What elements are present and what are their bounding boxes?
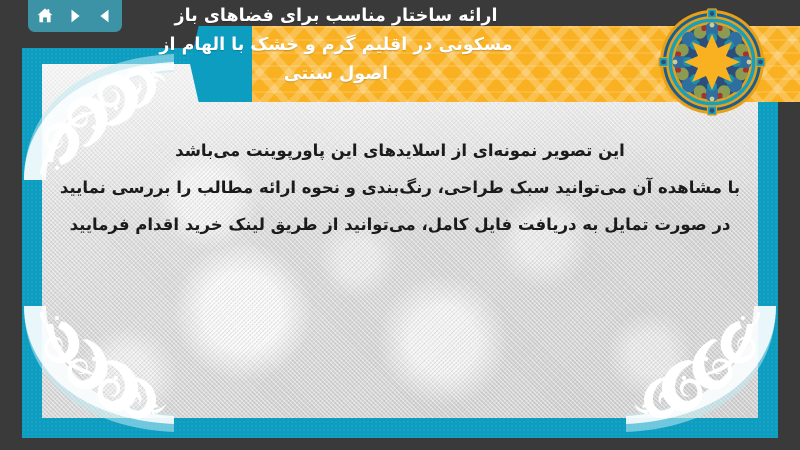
body-line-2: با مشاهده آن می‌توانید سبک طراحی، رنگ‌بن… bbox=[42, 169, 758, 206]
forward-button[interactable] bbox=[62, 3, 88, 29]
body-line-3: در صورت تمایل به دریافت فایل کامل، می‌تو… bbox=[42, 206, 758, 243]
slide-body-text: این تصویر نمونه‌ای از اسلایدهای این پاور… bbox=[42, 132, 758, 243]
back-button[interactable] bbox=[92, 3, 118, 29]
navigation-bar bbox=[28, 0, 122, 32]
slide-canvas: ارائه ساختار مناسب برای فضاهای باز مسکون… bbox=[0, 0, 800, 450]
home-button[interactable] bbox=[32, 3, 58, 29]
body-line-1: این تصویر نمونه‌ای از اسلایدهای این پاور… bbox=[42, 132, 758, 169]
home-icon bbox=[36, 7, 54, 25]
triangle-left-icon bbox=[97, 8, 113, 24]
islamic-mandala-ornament-icon bbox=[658, 8, 766, 116]
triangle-right-icon bbox=[67, 8, 83, 24]
